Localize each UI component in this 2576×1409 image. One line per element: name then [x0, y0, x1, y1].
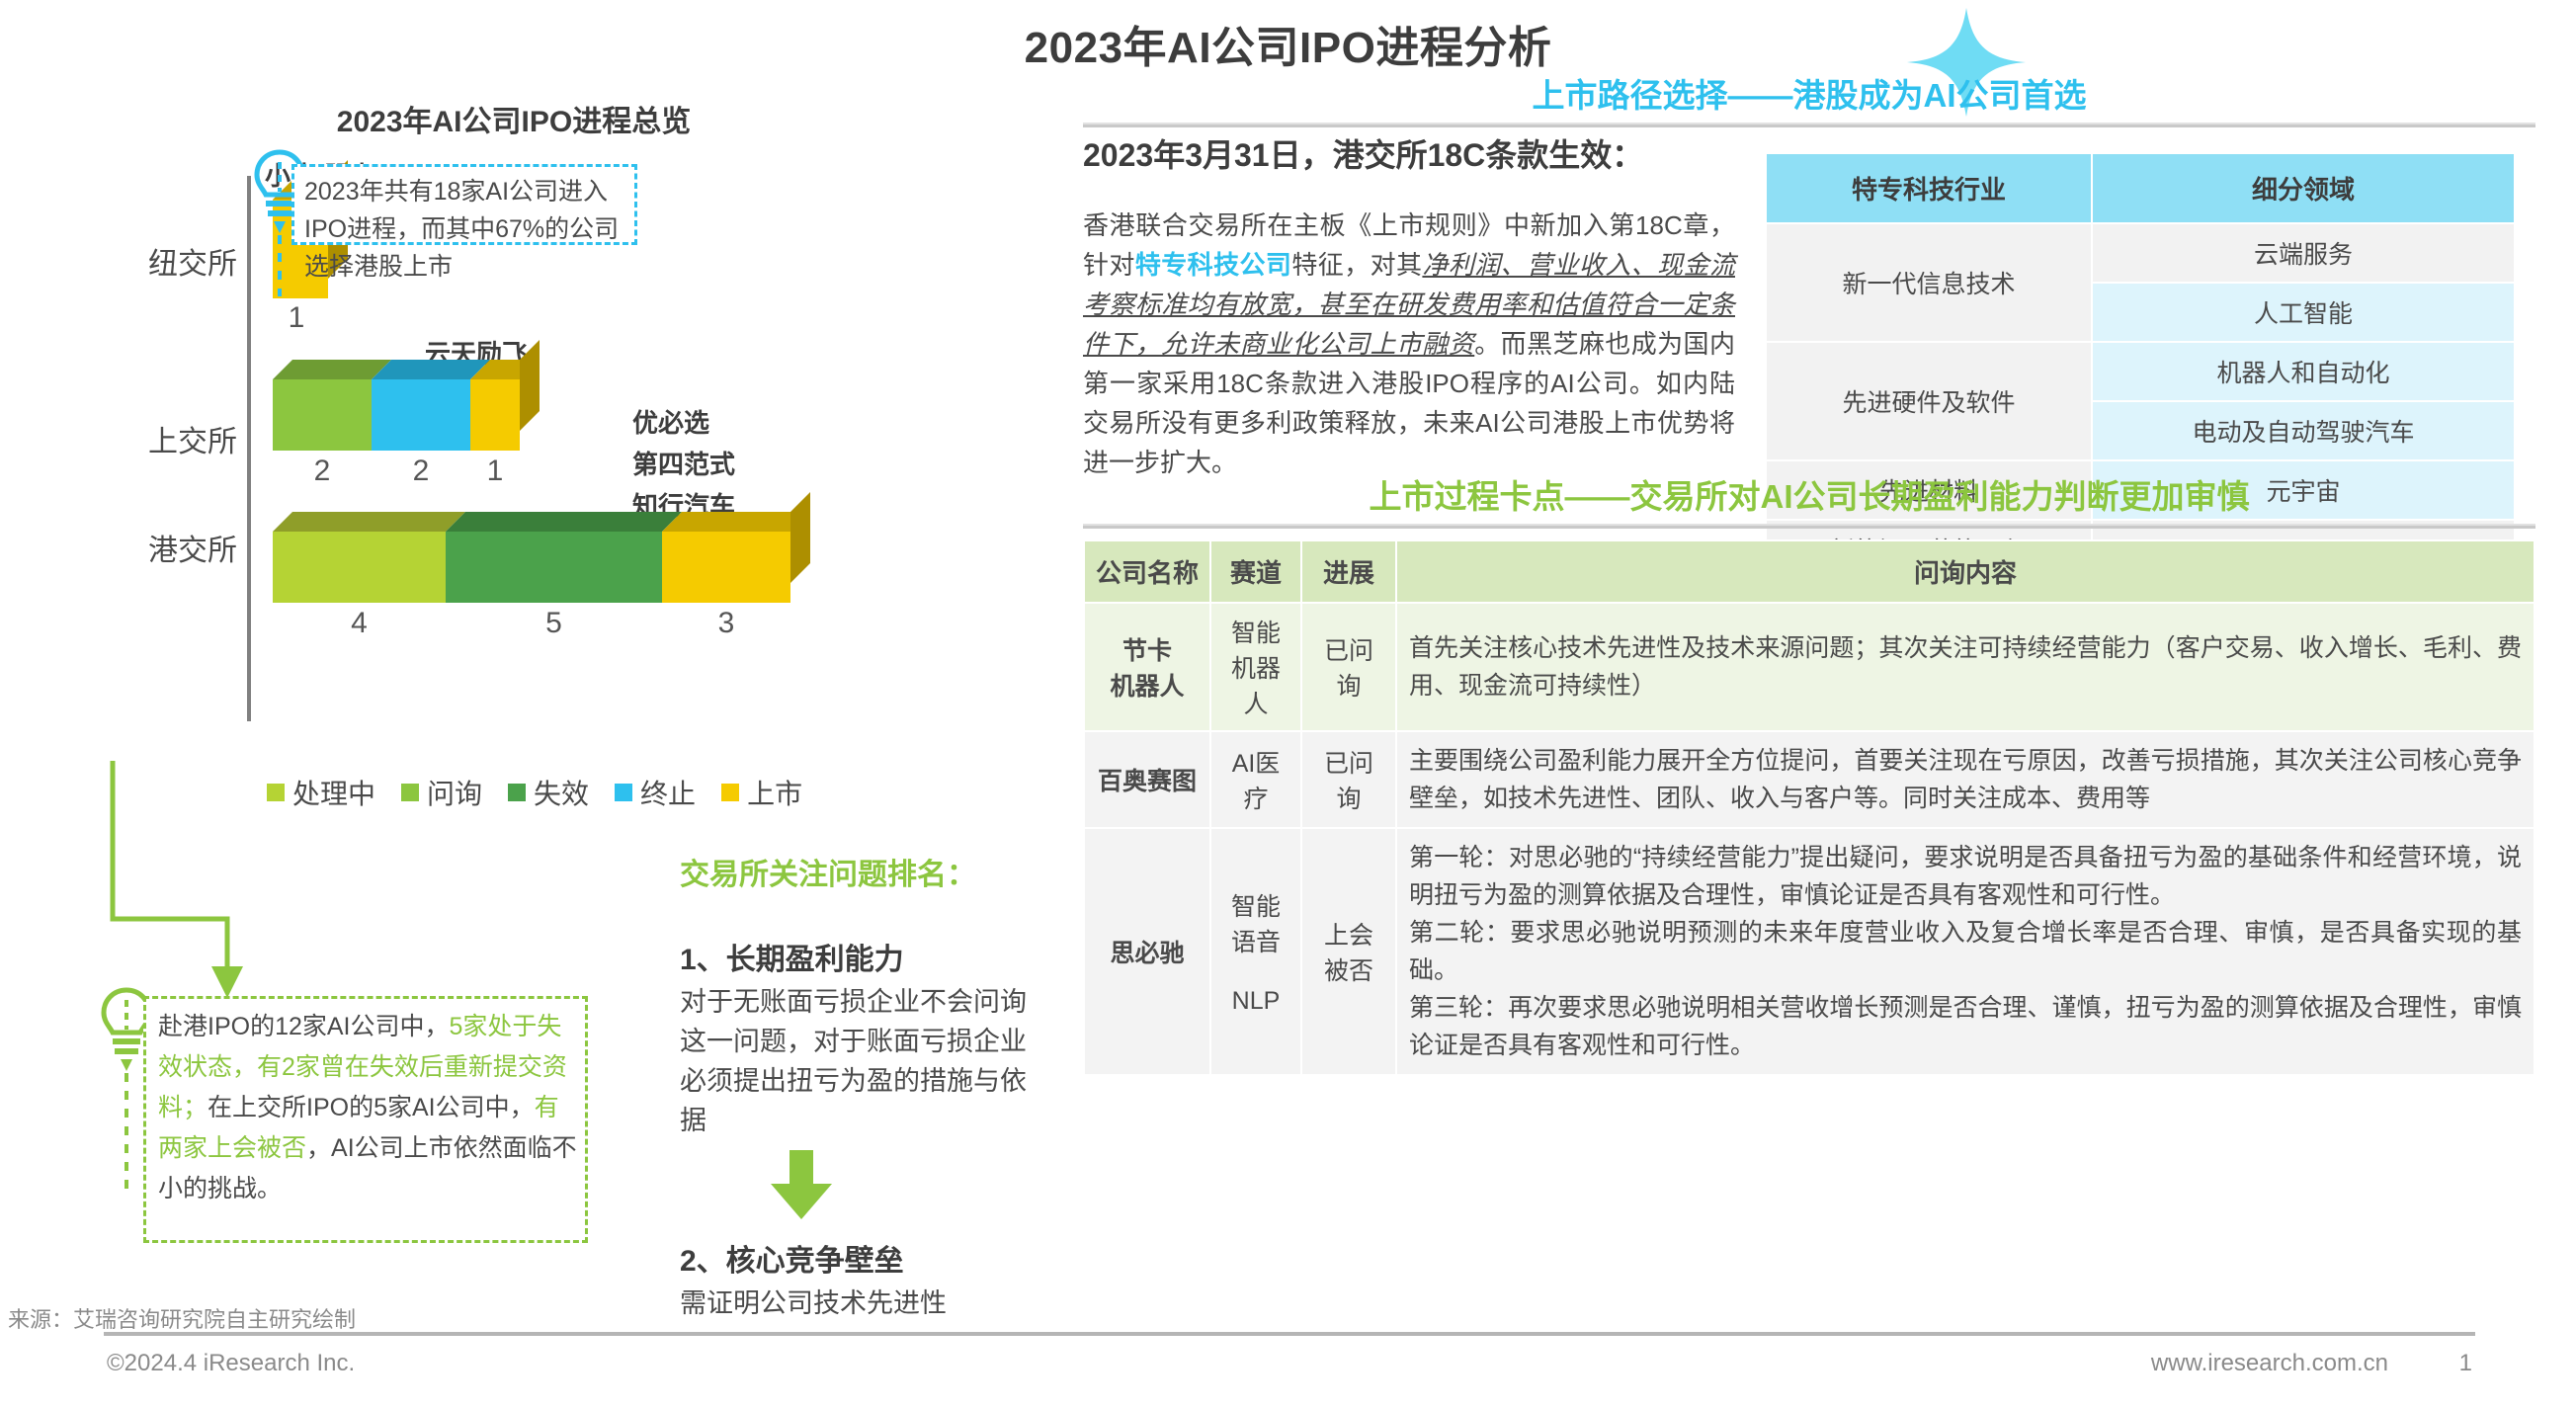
left-panel: 2023年AI公司IPO进程总览 纽交所 上交所 港交所 小i机器人 1 云天励…: [0, 69, 1072, 1344]
section-listing-blockers: 上市过程卡点——交易所对AI公司长期盈利能力判断更加审慎 公司名称 赛道 进展 …: [1083, 470, 2535, 529]
bar-row-hkex: [273, 532, 790, 603]
section1-header: 上市路径选择——港股成为AI公司首选: [1083, 69, 2535, 127]
qtable-content-0: 首先关注核心技术先进性及技术来源问题；其次关注可持续经营能力（客户交易、收入增长…: [1396, 603, 2534, 731]
qtable-header-content: 问询内容: [1396, 540, 2534, 603]
t18c-header-industry: 特专科技行业: [1766, 153, 2092, 223]
qtable-company-1: 百奥赛图: [1084, 731, 1210, 828]
legend-label-processing: 处理中: [292, 773, 375, 812]
table-row: 思必驰 智能 语音 NLP 上会 被否 第一轮：对思必驰的“持续经营能力”提出疑…: [1084, 828, 2534, 1075]
bar-segment-listed-hkex: [662, 532, 790, 603]
footer: ©2024.4 iResearch Inc. www.iresearch.com…: [0, 1350, 2576, 1389]
legend-label-terminated: 终止: [640, 773, 696, 812]
ranking-item-1-body: 对于无账面亏损企业不会问询这一问题，对于账面亏损企业必须提出扭亏为盈的措施与依据: [680, 982, 1045, 1140]
green-callout-part3: 在上交所IPO的5家AI公司中，: [208, 1094, 535, 1121]
footer-website[interactable]: www.iresearch.com.cn: [2151, 1350, 2388, 1377]
down-arrow-icon: [769, 1150, 834, 1221]
section2-title: 上市过程卡点——交易所对AI公司长期盈利能力判断更加审慎: [1083, 470, 2535, 518]
table-row: 新一代信息技术 云端服务: [1766, 223, 2515, 283]
qtable-content-2: 第一轮：对思必驰的“持续经营能力”提出疑问，要求说明是否具备扭亏为盈的基础条件和…: [1396, 828, 2534, 1075]
legend-item-listed: 上市: [721, 773, 802, 812]
legend-swatch-lapsed: [508, 784, 526, 801]
legend-label-lapsed: 失效: [534, 773, 589, 812]
green-callout-part1: 赴港IPO的12家AI公司中，: [158, 1013, 450, 1040]
legend-item-processing: 处理中: [267, 773, 375, 812]
section2-divider: [1083, 524, 2535, 529]
dateline-18c: 2023年3月31日，港交所18C条款生效：: [1083, 130, 1735, 176]
prose-block: 2023年3月31日，港交所18C条款生效： 香港联合交易所在主板《上市规则》中…: [1083, 130, 1735, 476]
page-title: 2023年AI公司IPO进程分析: [0, 12, 2576, 75]
qtable-progress-0: 已问询: [1301, 603, 1396, 731]
t18c-industry-1: 先进硬件及软件: [1766, 342, 2092, 460]
qtable-track-0: 智能 机器人: [1210, 603, 1301, 731]
ranking-title: 交易所关注问题排名：: [680, 850, 1045, 893]
table-row: 先进硬件及软件 机器人和自动化: [1766, 342, 2515, 401]
bar-value-hkex-listed: 3: [662, 607, 790, 640]
bar-segment-processing-hkex: [273, 532, 446, 603]
chart-title: 2023年AI公司IPO进程总览: [198, 97, 830, 140]
qtable-progress-2: 上会 被否: [1301, 828, 1396, 1075]
bar-segment-listed-sse: [470, 379, 520, 451]
qtable-content-1: 主要围绕公司盈利能力展开全方位提问，首要关注现在亏原因，改善亏损措施，其次关注公…: [1396, 731, 2534, 828]
bar-value-hkex-lapsed: 5: [446, 607, 662, 640]
legend-swatch-inquiry: [401, 784, 419, 801]
bar-value-nyse-listed: 1: [269, 301, 324, 335]
bar-value-sse-terminated: 2: [372, 455, 470, 488]
axis-label-nyse: 纽交所: [99, 239, 237, 283]
legend-item-lapsed: 失效: [508, 773, 589, 812]
bar-value-hkex-processing: 4: [273, 607, 446, 640]
legend-item-inquiry: 问询: [401, 773, 482, 812]
prose-s3: 特征，对其: [1291, 250, 1422, 280]
source-note: 来源：艾瑞咨询研究院自主研究绘制: [8, 1302, 356, 1334]
section1-title: 上市路径选择——港股成为AI公司首选: [1083, 69, 2535, 117]
section-listing-path: 上市路径选择——港股成为AI公司首选: [1083, 69, 2535, 127]
legend-swatch-terminated: [615, 784, 632, 801]
footer-page-number: 1: [2459, 1350, 2472, 1377]
qtable-track-1: AI医 疗: [1210, 731, 1301, 828]
legend-item-terminated: 终止: [615, 773, 696, 812]
t18c-field-0-1: 人工智能: [2092, 283, 2515, 342]
prose-highlight: 特专科技公司: [1135, 250, 1292, 280]
t18c-field-0-0: 云端服务: [2092, 223, 2515, 283]
ranking-item-1-head: 1、长期盈利能力: [680, 935, 1045, 978]
t18c-industry-0: 新一代信息技术: [1766, 223, 2092, 342]
bar-company-label-4paradigm: 第四范式: [632, 445, 735, 481]
chart-y-axis: [247, 176, 251, 721]
footer-divider: [104, 1332, 2475, 1336]
footer-copyright: ©2024.4 iResearch Inc.: [107, 1350, 355, 1377]
table-row: 百奥赛图 AI医 疗 已问询 主要围绕公司盈利能力展开全方位提问，首要关注现在亏…: [1084, 731, 2534, 828]
axis-label-sse: 上交所: [99, 417, 237, 460]
bar-segment-inquiry-sse: [273, 379, 372, 451]
qtable-progress-1: 已问询: [1301, 731, 1396, 828]
qtable-company-2: 思必驰: [1084, 828, 1210, 1075]
inquiry-table: 公司名称 赛道 进展 问询内容 节卡 机器人 智能 机器人 已问询 首先关注核心…: [1083, 539, 2535, 1076]
qtable-header-progress: 进展: [1301, 540, 1396, 603]
blue-callout-box: 2023年共有18家AI公司进入IPO进程，而其中67%的公司选择港股上市: [291, 164, 637, 245]
bar-value-sse-inquiry: 2: [273, 455, 372, 488]
prose-paragraph: 香港联合交易所在主板《上市规则》中新加入第18C章，针对特专科技公司特征，对其净…: [1083, 206, 1735, 482]
green-callout-text: 赴港IPO的12家AI公司中，5家处于失效状态，有2家曾在失效后重新提交资料；在…: [158, 1007, 583, 1209]
green-callout-box: 赴港IPO的12家AI公司中，5家处于失效状态，有2家曾在失效后重新提交资料；在…: [143, 996, 588, 1243]
bar-row-sse: [273, 379, 520, 451]
bar-segment-terminated-sse: [372, 379, 470, 451]
qtable-header-row: 公司名称 赛道 进展 问询内容: [1084, 540, 2534, 603]
bar-segment-lapsed-hkex: [446, 532, 662, 603]
ranking-item-2-body: 需证明公司技术先进性: [680, 1284, 1045, 1323]
exchange-questions-ranking: 交易所关注问题排名： 1、长期盈利能力 对于无账面亏损企业不会问询这一问题，对于…: [680, 850, 1045, 1323]
qtable-company-0: 节卡 机器人: [1084, 603, 1210, 731]
bar-value-sse-listed: 1: [470, 455, 520, 488]
blue-callout-text: 2023年共有18家AI公司进入IPO进程，而其中67%的公司选择港股上市: [304, 173, 632, 286]
chart-legend: 处理中 问询 失效 终止 上市: [267, 773, 802, 812]
qtable-header-track: 赛道: [1210, 540, 1301, 603]
ranking-item-2-head: 2、核心竞争壁垒: [680, 1236, 1045, 1280]
t18c-field-1-1: 电动及自动驾驶汽车: [2092, 401, 2515, 460]
t18c-header-row: 特专科技行业 细分领域: [1766, 153, 2515, 223]
table-row: 节卡 机器人 智能 机器人 已问询 首先关注核心技术先进性及技术来源问题；其次关…: [1084, 603, 2534, 731]
section1-body: 2023年3月31日，港交所18C条款生效： 香港联合交易所在主板《上市规则》中…: [1083, 130, 2535, 476]
connector-arrow: [109, 761, 277, 1008]
legend-label-listed: 上市: [747, 773, 802, 812]
legend-swatch-listed: [721, 784, 739, 801]
qtable-header-company: 公司名称: [1084, 540, 1210, 603]
axis-label-hkex: 港交所: [99, 526, 237, 569]
legend-label-inquiry: 问询: [427, 773, 482, 812]
bar-company-label-ubtech: 优必选: [632, 403, 709, 440]
qtable-track-2: 智能 语音 NLP: [1210, 828, 1301, 1075]
right-panel: 上市路径选择——港股成为AI公司首选 2023年3月31日，港交所18C条款生效…: [1083, 69, 2535, 1344]
section1-divider: [1083, 123, 2535, 127]
section2-header: 上市过程卡点——交易所对AI公司长期盈利能力判断更加审慎: [1083, 470, 2535, 529]
infographic-page: 2023年AI公司IPO进程分析 2023年AI公司IPO进程总览 纽交所 上交…: [0, 0, 2576, 1409]
t18c-field-1-0: 机器人和自动化: [2092, 342, 2515, 401]
t18c-header-field: 细分领域: [2092, 153, 2515, 223]
